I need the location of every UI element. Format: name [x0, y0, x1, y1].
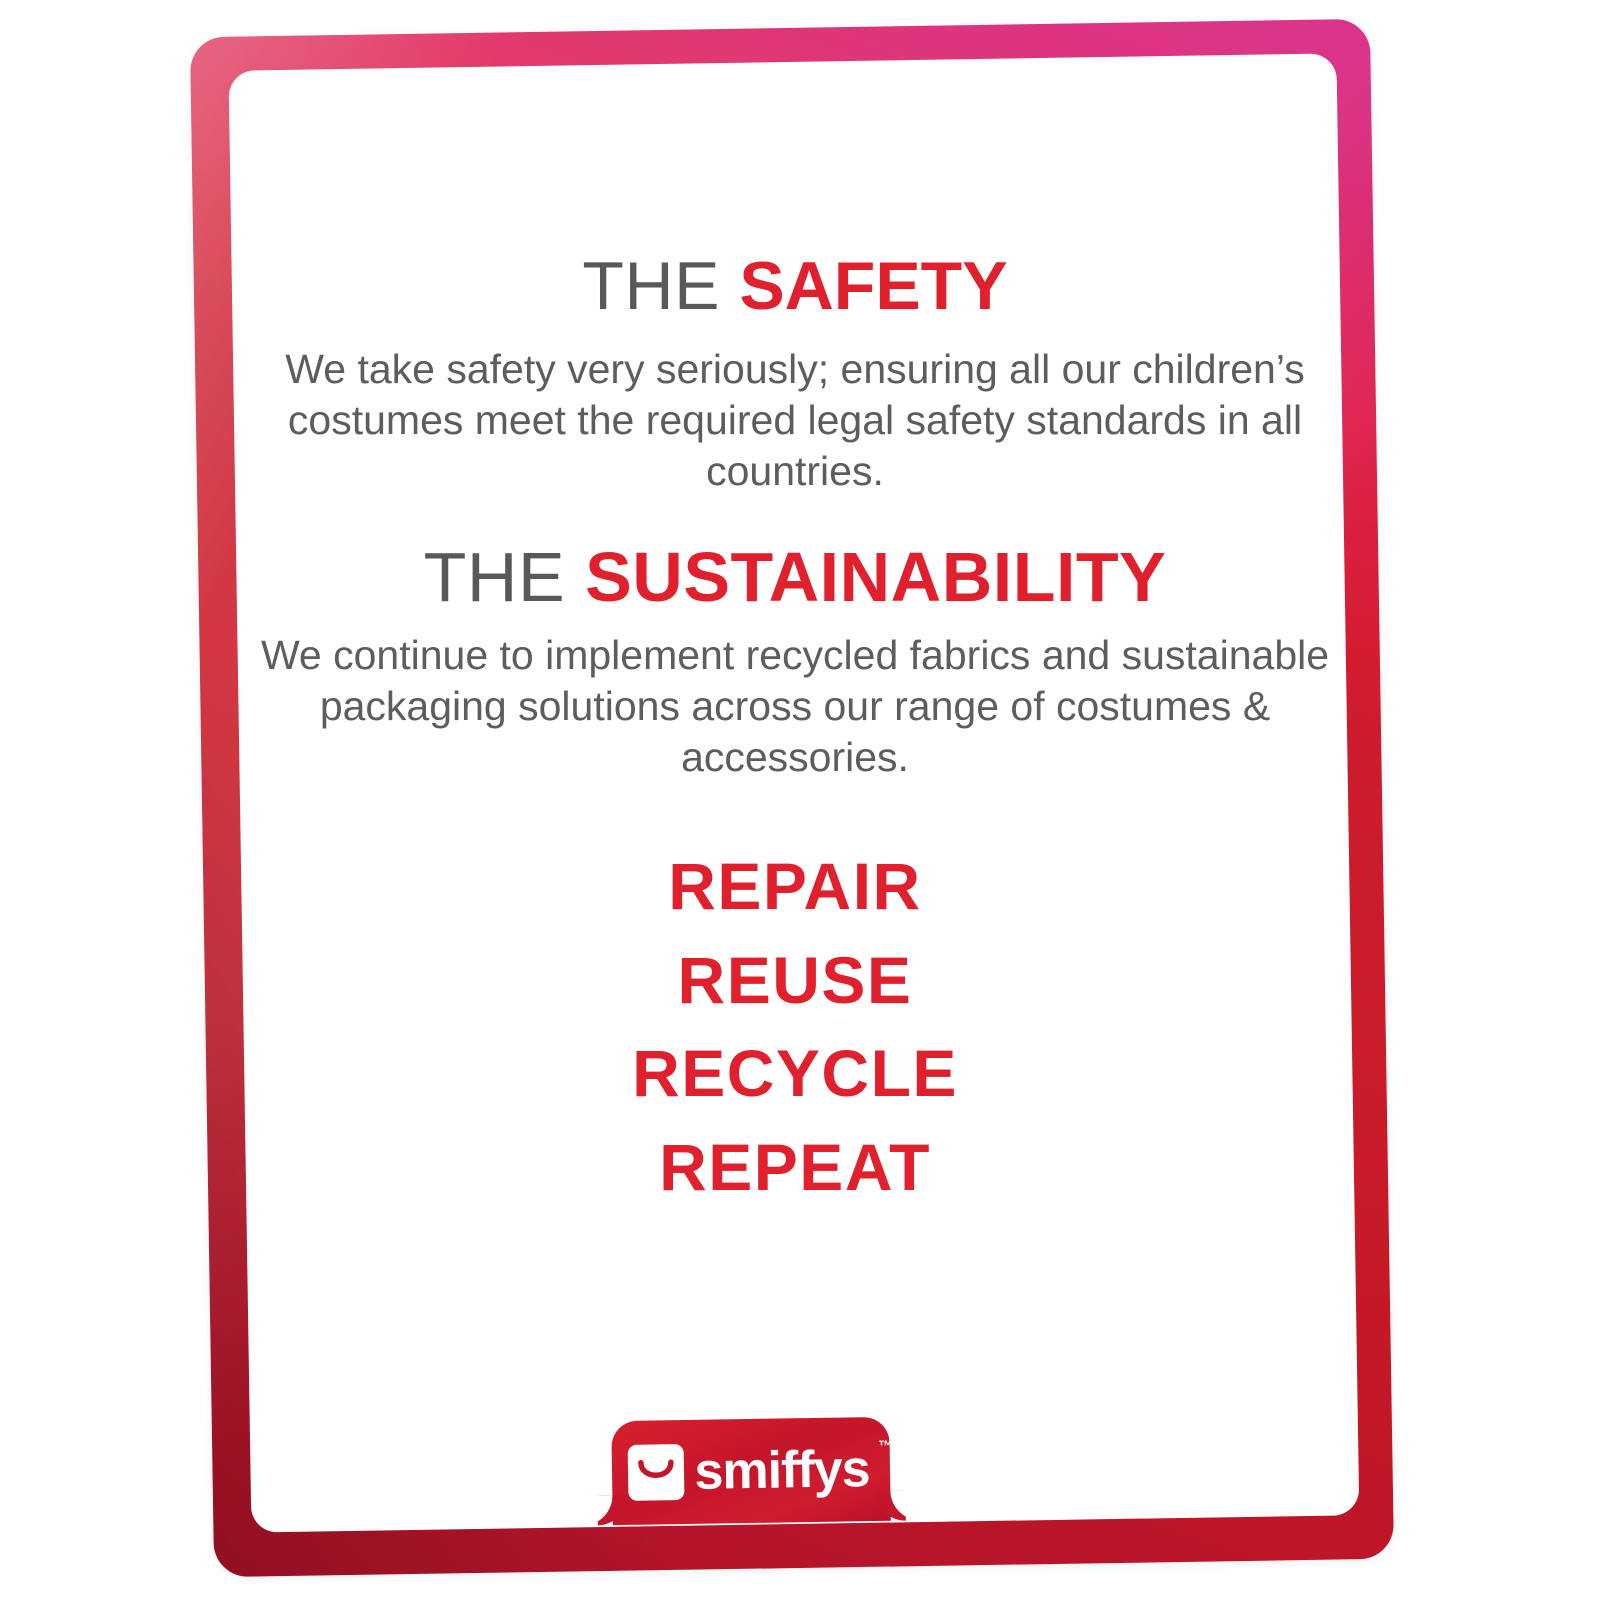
brand-logo: smiffys™	[589, 1406, 911, 1531]
rword-repeat: REPEAT	[250, 1121, 1340, 1215]
trademark-symbol: ™	[878, 1439, 893, 1454]
sustainability-heading: THE SUSTAINABILITY	[250, 542, 1340, 612]
rword-repair: REPAIR	[250, 840, 1340, 934]
poster: THE SAFETY We take safety very seriously…	[0, 0, 1600, 1600]
safety-heading-accent: SAFETY	[739, 248, 1007, 324]
smile-icon	[628, 1444, 685, 1501]
logo-wordmark: smiffys™	[694, 1443, 874, 1498]
rword-reuse: REUSE	[250, 934, 1340, 1028]
rwords-list: REPAIR REUSE RECYCLE REPEAT	[250, 840, 1340, 1215]
poster-content: THE SAFETY We take safety very seriously…	[250, 0, 1340, 1600]
logo-content: smiffys™	[611, 1417, 891, 1525]
sustainability-body-text: We continue to implement recycled fabric…	[250, 630, 1340, 782]
logo-wordmark-text: smiffys	[694, 1440, 870, 1501]
sustainability-heading-lead: THE	[424, 538, 585, 616]
safety-body-text: We take safety very seriously; ensuring …	[250, 344, 1340, 496]
rword-recycle: RECYCLE	[250, 1027, 1340, 1121]
sustainability-heading-accent: SUSTAINABILITY	[585, 538, 1166, 616]
safety-heading: THE SAFETY	[250, 252, 1340, 320]
safety-heading-lead: THE	[582, 248, 739, 324]
